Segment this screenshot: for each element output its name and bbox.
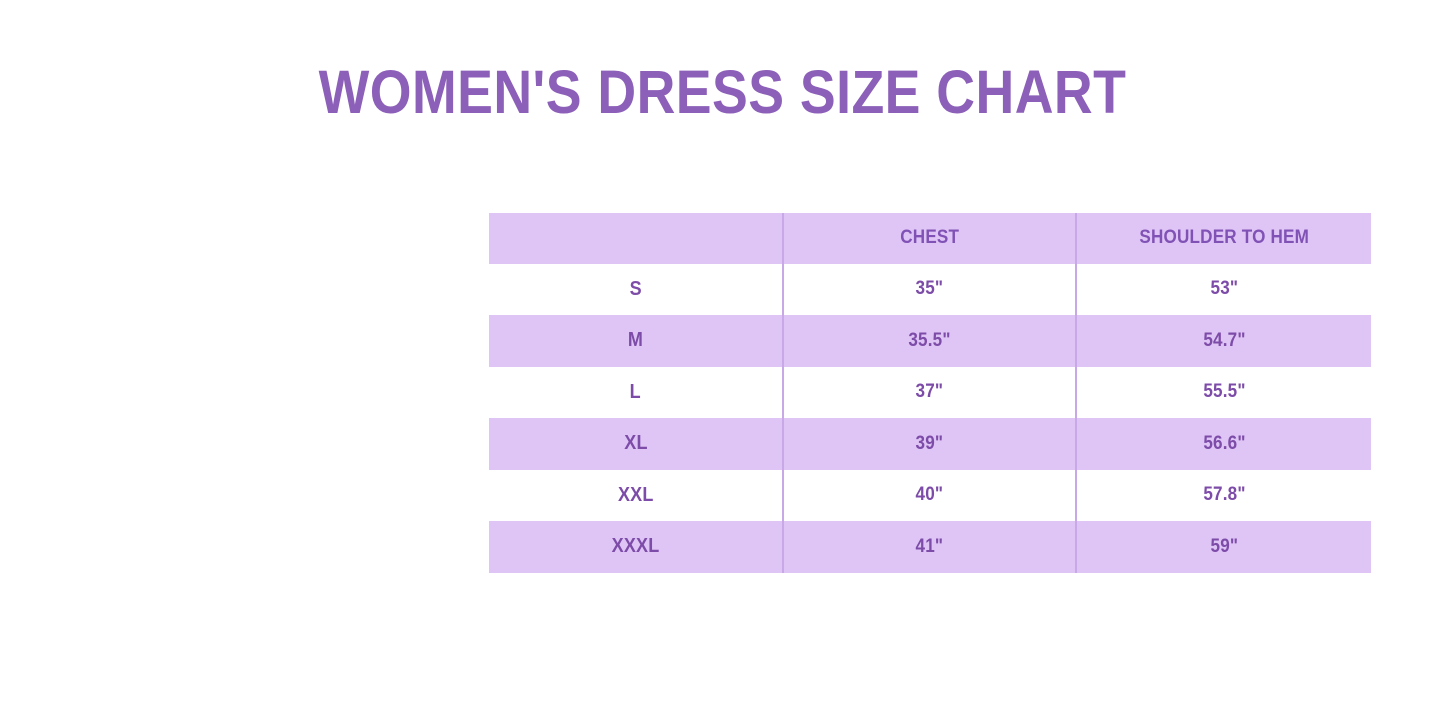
shoulder-to-hem-value: 59": [1210, 522, 1238, 573]
chest-value: 35": [916, 264, 944, 315]
cell-chest: 37": [783, 367, 1076, 419]
size-value: XL: [624, 418, 647, 469]
cell-size: XL: [489, 418, 783, 470]
column-header-shoulder-to-hem: SHOULDER TO HEM: [1076, 213, 1371, 264]
chest-value: 35.5": [908, 316, 950, 367]
shoulder-to-hem-value: 56.6": [1203, 419, 1245, 470]
cell-shoulder-to-hem: 55.5": [1076, 367, 1371, 419]
shoulder-to-hem-value: 53": [1210, 264, 1238, 315]
chest-value: 39": [916, 419, 944, 470]
shoulder-to-hem-value: 57.8": [1203, 470, 1245, 521]
cell-chest: 40": [783, 470, 1076, 522]
column-header-chest: CHEST: [783, 213, 1076, 264]
table-row: XXXL 41" 59": [489, 521, 1371, 573]
cell-size: XXL: [489, 470, 783, 522]
column-header-size: [489, 213, 783, 264]
cell-chest: 39": [783, 418, 1076, 470]
table-row: XL 39" 56.6": [489, 418, 1371, 470]
cell-size: L: [489, 367, 783, 419]
table-header-row: CHEST SHOULDER TO HEM: [489, 213, 1371, 264]
cell-chest: 35.5": [783, 315, 1076, 367]
chest-value: 40": [916, 470, 944, 521]
cell-chest: 35": [783, 264, 1076, 316]
table-row: XXL 40" 57.8": [489, 470, 1371, 522]
size-value: S: [629, 264, 641, 315]
cell-size: S: [489, 264, 783, 316]
table-row: L 37" 55.5": [489, 367, 1371, 419]
cell-shoulder-to-hem: 54.7": [1076, 315, 1371, 367]
column-header-shoulder-to-hem-label: SHOULDER TO HEM: [1139, 213, 1309, 264]
cell-shoulder-to-hem: 59": [1076, 521, 1371, 573]
chest-value: 37": [916, 367, 944, 418]
size-value: XXXL: [612, 521, 660, 572]
cell-size: M: [489, 315, 783, 367]
chest-value: 41": [916, 522, 944, 573]
size-chart-table: CHEST SHOULDER TO HEM S 35" 53": [489, 213, 1371, 573]
cell-size: XXXL: [489, 521, 783, 573]
shoulder-to-hem-value: 54.7": [1203, 316, 1245, 367]
table-row: S 35" 53": [489, 264, 1371, 316]
size-chart-table-container: CHEST SHOULDER TO HEM S 35" 53": [489, 213, 1371, 566]
shoulder-to-hem-value: 55.5": [1203, 367, 1245, 418]
size-value: L: [630, 367, 641, 418]
cell-shoulder-to-hem: 56.6": [1076, 418, 1371, 470]
page-title: WOMEN'S DRESS SIZE CHART: [87, 57, 1359, 127]
cell-shoulder-to-hem: 53": [1076, 264, 1371, 316]
column-header-chest-label: CHEST: [900, 213, 959, 264]
table-row: M 35.5" 54.7": [489, 315, 1371, 367]
cell-chest: 41": [783, 521, 1076, 573]
size-value: XXL: [618, 470, 654, 521]
size-value: M: [628, 315, 643, 366]
cell-shoulder-to-hem: 57.8": [1076, 470, 1371, 522]
